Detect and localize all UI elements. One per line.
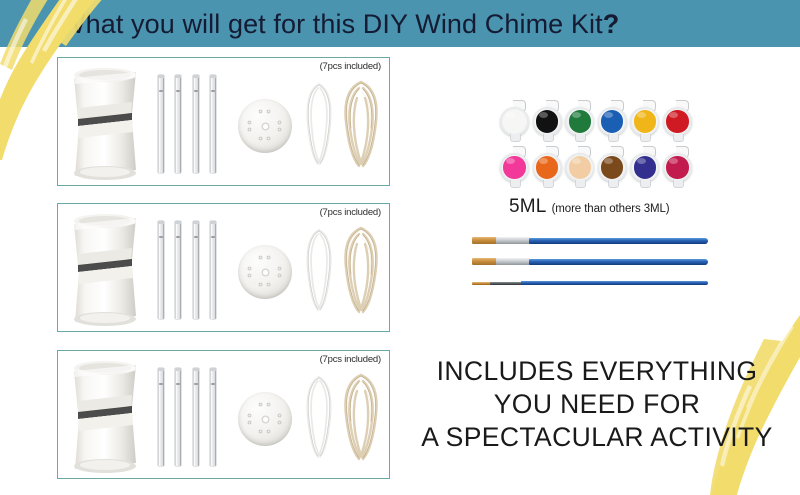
- hanging-disc-icon: [238, 99, 292, 153]
- paint-pot-ink: [666, 156, 688, 178]
- paint-pot-foot: [575, 134, 586, 142]
- paint-pot-foot: [543, 134, 554, 142]
- tagline-block: INCLUDES EVERYTHING YOU NEED FOR A SPECT…: [400, 355, 794, 454]
- paint-pot-ink: [601, 110, 623, 132]
- white-cord-icon: [304, 80, 334, 168]
- disc-center-hole: [262, 416, 269, 423]
- paint-pot-foot: [510, 180, 521, 188]
- paint-pot-body: [533, 153, 562, 182]
- metal-tube-icon: [175, 75, 181, 173]
- kit-contents-box: (7pcs included): [57, 203, 390, 332]
- ceramic-pots-icon: [66, 214, 144, 326]
- page-title: What you will get for this DIY Wind Chim…: [60, 2, 780, 47]
- jute-twine-icon: [341, 224, 381, 316]
- paint-pot-brown: [598, 146, 627, 188]
- paint-pots-row-top: [500, 100, 692, 142]
- metal-tube-icon: [210, 221, 216, 319]
- paint-pot-body: [630, 107, 659, 136]
- paint-pot-crimson: [663, 146, 692, 188]
- paint-pot-foot: [575, 180, 586, 188]
- paint-pot-ink: [503, 156, 525, 178]
- metal-tube-icon: [210, 368, 216, 466]
- paint-pot-body: [598, 153, 627, 182]
- paint-pot-foot: [640, 134, 651, 142]
- metal-tube-icon: [175, 221, 181, 319]
- pcs-included-label: (7pcs included): [320, 354, 381, 365]
- brush-ferrule: [490, 282, 522, 285]
- brush-bristles: [472, 237, 497, 243]
- kit-contents-box: (7pcs included): [57, 57, 390, 186]
- brush-handle: [521, 281, 708, 285]
- brush-handle: [529, 238, 708, 244]
- paint-pot-body: [500, 107, 529, 136]
- paint-pot-body: [565, 107, 594, 136]
- brush-ferrule: [496, 237, 530, 244]
- paint-pots-set: [500, 100, 692, 188]
- paint-pot-ink: [569, 156, 591, 178]
- paint-pot-body: [663, 107, 692, 136]
- kit-contents-box: (7pcs included): [57, 350, 390, 479]
- metal-tubes-group: [158, 221, 216, 319]
- paint-pot-body: [500, 153, 529, 182]
- tagline-line-3: A SPECTACULAR ACTIVITY: [400, 421, 794, 454]
- paint-pot-foot: [608, 134, 619, 142]
- paint-pot-body: [598, 107, 627, 136]
- page-title-text: What you will get for this DIY Wind Chim…: [60, 9, 603, 39]
- jute-twine-icon: [341, 371, 381, 463]
- pcs-included-label: (7pcs included): [320, 61, 381, 72]
- paint-pot-yellow: [630, 100, 659, 142]
- white-cord-icon: [304, 226, 334, 314]
- paint-brush-detail-icon: [472, 279, 708, 288]
- metal-tube-icon: [158, 221, 164, 319]
- paint-pot-peach: [565, 146, 594, 188]
- paint-pot-foot: [673, 134, 684, 142]
- paint-pot-ink: [536, 156, 558, 178]
- hanging-disc-icon: [238, 245, 292, 299]
- metal-tube-icon: [210, 75, 216, 173]
- brush-ferrule: [496, 258, 530, 265]
- metal-tube-icon: [193, 368, 199, 466]
- disc-center-hole: [262, 269, 269, 276]
- page-title-question-mark: ?: [603, 9, 620, 39]
- paint-pot-ink: [634, 110, 656, 132]
- paint-pot-body: [630, 153, 659, 182]
- metal-tubes-group: [158, 75, 216, 173]
- metal-tube-icon: [158, 75, 164, 173]
- paint-pot-ink: [569, 110, 591, 132]
- paint-pot-body: [565, 153, 594, 182]
- paint-pot-pink: [500, 146, 529, 188]
- paint-pot-ink: [536, 110, 558, 132]
- paint-pot-red: [663, 100, 692, 142]
- paint-brushes-group: [472, 236, 708, 298]
- paint-pot-black: [533, 100, 562, 142]
- metal-tube-icon: [158, 368, 164, 466]
- paint-pot-purple: [630, 146, 659, 188]
- metal-tube-icon: [193, 221, 199, 319]
- paint-pot-foot: [608, 180, 619, 188]
- ceramic-pots-icon: [66, 68, 144, 180]
- paint-brush-flat-icon: [472, 236, 708, 245]
- brush-bristles: [472, 258, 497, 264]
- paint-pot-ink: [666, 110, 688, 132]
- paint-pot-ink: [503, 110, 525, 132]
- paint-brush-flat-icon: [472, 257, 708, 266]
- paint-pots-row-bottom: [500, 146, 692, 188]
- paint-volume-note: (more than others 3ML): [552, 203, 670, 215]
- paint-pot-foot: [510, 134, 521, 142]
- paint-pot-foot: [543, 180, 554, 188]
- paint-pot-body: [533, 107, 562, 136]
- paint-pot-white: [500, 100, 529, 142]
- tagline-line-1: INCLUDES EVERYTHING: [400, 355, 794, 388]
- paint-pot-foot: [640, 180, 651, 188]
- tagline-line-2: YOU NEED FOR: [400, 388, 794, 421]
- paint-pot-ink: [601, 156, 623, 178]
- metal-tubes-group: [158, 368, 216, 466]
- brush-bristles: [472, 282, 491, 286]
- jute-twine-icon: [341, 78, 381, 170]
- paint-pot-blue: [598, 100, 627, 142]
- brush-handle: [529, 259, 708, 265]
- paint-pot-green: [565, 100, 594, 142]
- paint-pot-foot: [673, 180, 684, 188]
- metal-tube-icon: [193, 75, 199, 173]
- paint-volume-label: 5ML(more than others 3ML): [509, 196, 769, 220]
- disc-center-hole: [262, 123, 269, 130]
- metal-tube-icon: [175, 368, 181, 466]
- white-cord-icon: [304, 373, 334, 461]
- ceramic-pots-icon: [66, 361, 144, 473]
- paint-pot-body: [663, 153, 692, 182]
- infographic-page: What you will get for this DIY Wind Chim…: [0, 0, 800, 495]
- paint-volume-value: 5ML: [509, 196, 547, 217]
- hanging-disc-icon: [238, 392, 292, 446]
- pcs-included-label: (7pcs included): [320, 207, 381, 218]
- paint-pot-ink: [634, 156, 656, 178]
- header-banner: What you will get for this DIY Wind Chim…: [0, 0, 800, 47]
- paint-pot-orange: [533, 146, 562, 188]
